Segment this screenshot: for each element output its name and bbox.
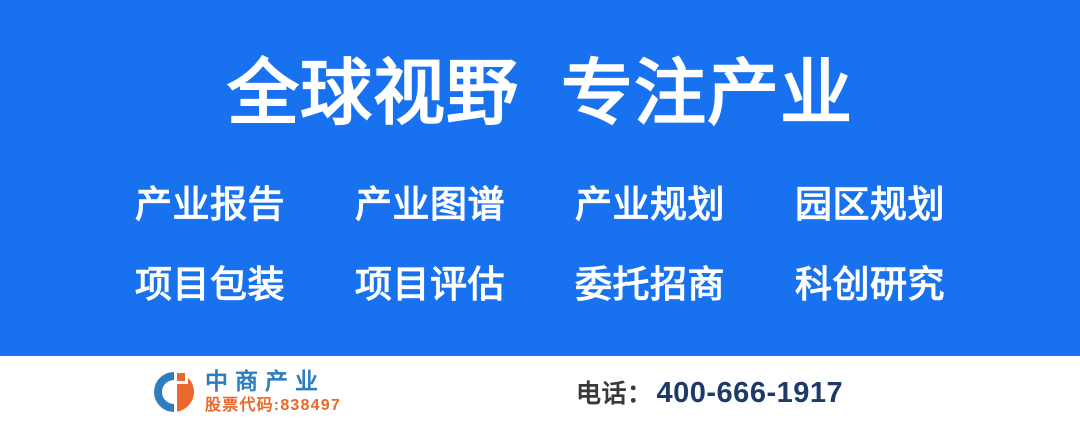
contact-phone: 电话： 400-666-1917	[576, 378, 843, 409]
hero-section: 全球视野 专注产业 产业报告 产业图谱 产业规划 园区规划 项目包装 项目评估 …	[0, 0, 1080, 356]
page-title: 全球视野 专注产业	[0, 52, 1080, 136]
service-grid: 产业报告 产业图谱 产业规划 园区规划 项目包装 项目评估 委托招商 科创研究	[120, 182, 960, 308]
service-item-investment-agency[interactable]: 委托招商	[560, 262, 740, 308]
company-logo-icon	[152, 370, 196, 414]
stock-code: 股票代码:838497	[205, 396, 341, 416]
service-item-park-planning[interactable]: 园区规划	[780, 182, 960, 228]
service-item-project-packaging[interactable]: 项目包装	[120, 262, 300, 308]
service-item-industry-report[interactable]: 产业报告	[120, 182, 300, 228]
service-item-industry-map[interactable]: 产业图谱	[340, 182, 520, 228]
phone-number[interactable]: 400-666-1917	[657, 378, 844, 408]
phone-label: 电话：	[576, 379, 653, 409]
service-item-industry-planning[interactable]: 产业规划	[560, 182, 740, 228]
service-item-project-evaluation[interactable]: 项目评估	[340, 262, 520, 308]
footer-bar: 中商产业 股票代码:838497 电话： 400-666-1917	[0, 356, 1080, 442]
service-row: 产业报告 产业图谱 产业规划 园区规划	[120, 182, 960, 228]
promo-banner: 全球视野 专注产业 产业报告 产业图谱 产业规划 园区规划 项目包装 项目评估 …	[0, 0, 1080, 442]
service-item-tech-innovation-research[interactable]: 科创研究	[780, 262, 960, 308]
brand-text-block: 中商产业 股票代码:838497	[205, 368, 341, 416]
brand-block[interactable]: 中商产业 股票代码:838497	[152, 368, 341, 416]
brand-name: 中商产业	[205, 368, 341, 394]
service-row: 项目包装 项目评估 委托招商 科创研究	[120, 262, 960, 308]
